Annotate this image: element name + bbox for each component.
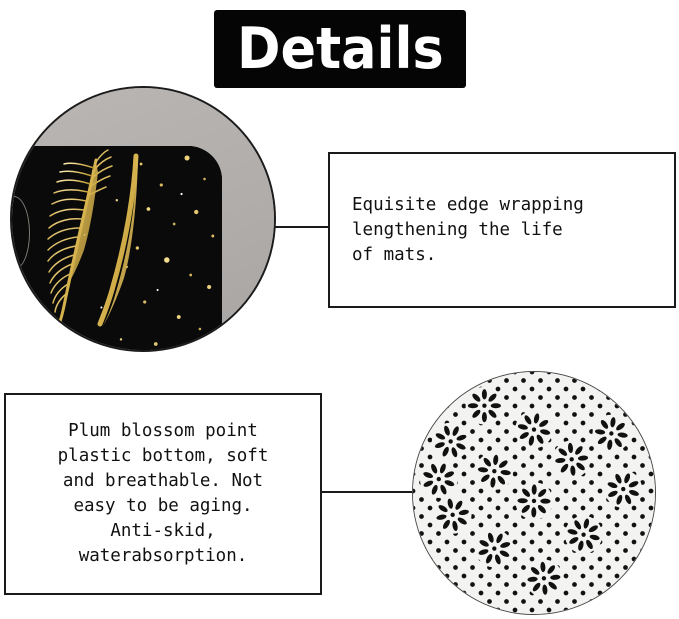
page-title: Details: [237, 21, 444, 78]
plum-blossom-pattern: [413, 372, 655, 614]
backing-closeup-photo: [412, 371, 656, 615]
callout-anti-skid: Plum blossom point plastic bottom, soft …: [4, 393, 322, 595]
details-title-banner: Details: [214, 10, 466, 88]
mat-closeup-photo: [10, 86, 276, 352]
callout-edge-wrapping-text: Equisite edge wrapping lengthening the l…: [352, 193, 584, 268]
connector-line-bottom: [320, 491, 420, 493]
gold-feather-graphic: [38, 138, 168, 338]
callout-edge-wrapping: Equisite edge wrapping lengthening the l…: [328, 152, 676, 308]
callout-anti-skid-text: Plum blossom point plastic bottom, soft …: [58, 419, 269, 569]
